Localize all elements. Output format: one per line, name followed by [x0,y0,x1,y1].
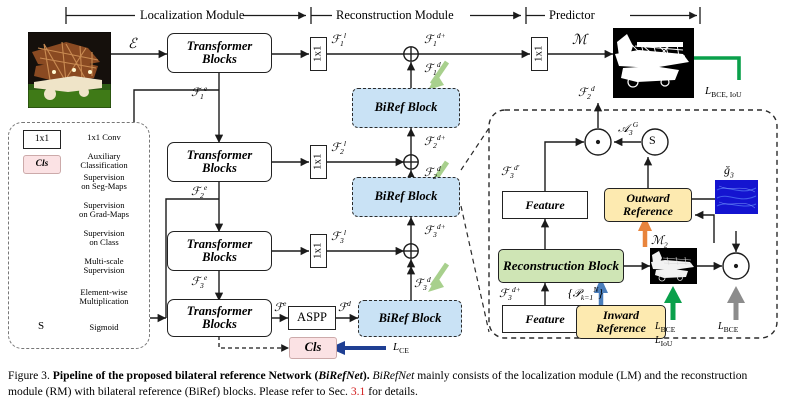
caption-title: Pipeline of the proposed bilateral refer… [53,369,370,382]
cls-block[interactable]: Cls [289,337,337,359]
biref-block-2-label: BiRef Block [375,190,438,203]
caption-net-name: BiRefNet [373,369,415,382]
label-loss-mask: LBCELIoU [655,321,675,348]
label-F3d-prime: ℱ3d′ [501,163,519,180]
transformer-blocks-3[interactable]: TransformerBlocks [167,231,272,271]
outward-reference-block[interactable]: OutwardReference [604,188,692,222]
biref-block-3[interactable]: BiRef Block [358,300,462,337]
label-F2l: ℱ2l [331,139,346,156]
transformer-blocks-1[interactable]: TransformerBlocks [167,33,272,73]
label-patches: {𝒫k=1N} [568,285,603,302]
cls-label: Cls [305,341,322,354]
label-Fd: ℱd [338,299,351,314]
legend-conv-1x1-icon: 1x1 [23,130,61,149]
transformer-blocks-4[interactable]: TransformerBlocks [167,299,272,337]
conv-1x1-predictor[interactable]: 1x1 [531,37,548,71]
legend-label-class: Supervisionon Class [66,229,142,248]
feature-box-top-label: Feature [525,199,564,212]
legend-cls-icon-text: Cls [36,160,49,170]
legend-label-elementwise: Element-wiseMultiplication [66,288,142,307]
feature-box-top[interactable]: Feature [502,191,588,219]
biref-block-3-label: BiRef Block [379,312,442,325]
transformer-blocks-2-label: TransformerBlocks [187,149,253,175]
conv-1x1-1-label: 1x1 [313,46,325,63]
label-F3e: ℱ3e [191,273,207,290]
feature-box-bottom-label: Feature [525,313,564,326]
label-Fe: ℱe [274,299,286,314]
conv-1x1-2[interactable]: 1x1 [310,145,327,179]
label-F1d-plus: ℱ1d+ [424,31,446,48]
label-attention-A3G: 𝒜3G [618,120,638,137]
legend-label-conv: 1x1 Conv [66,133,142,142]
mask-m2-image [650,248,697,284]
biref-block-1[interactable]: BiRef Block [352,88,460,128]
label-F1l: ℱ1l [331,31,346,48]
caption-body-end: for details. [365,385,417,398]
outward-reference-label: OutwardReference [623,192,673,219]
caption-section-link[interactable]: 3.1 [351,385,366,398]
biref-block-2[interactable]: BiRef Block [352,177,460,217]
legend-sigmoid-icon-text: S [38,320,44,332]
conv-1x1-1[interactable]: 1x1 [310,37,327,71]
inward-reference-block[interactable]: InwardReference [576,305,666,339]
biref-block-1-label: BiRef Block [375,101,438,114]
label-input-I: ℰ [128,36,136,53]
output-mask-image [613,28,694,98]
label-F1d: ℱ1d [424,60,441,77]
label-F3d: ℱ3d [414,275,431,292]
label-gt-G3: ğ3 [724,163,734,179]
aspp-block[interactable]: ASPP [288,306,336,330]
figure-caption: Figure 3. Pipeline of the proposed bilat… [8,368,784,399]
label-loss-grad: LBCE [718,321,738,334]
legend-label-seg: Supervisionon Seg-Maps [66,173,142,192]
figure-pipeline-birefnet: Localization Module Reconstruction Modul… [0,0,790,419]
label-F2d: ℱ2d [424,164,441,181]
caption-number: Figure 3. [8,369,50,382]
legend-label-sigmoid: Sigmoid [66,323,142,332]
ground-truth-g3-image [715,180,758,214]
label-loss-ce: LCE [393,341,409,355]
reconstruction-block[interactable]: Reconstruction Block [498,249,624,283]
input-image [28,32,111,108]
header-localization-module: Localization Module [140,8,244,23]
label-F2d-plus: ℱ2d+ [424,133,446,150]
label-mask-M2: ℳ2 [651,233,668,249]
label-F3d-plus: ℱ3d+ [424,222,446,239]
transformer-blocks-1-label: TransformerBlocks [187,40,253,66]
legend-label-cls: AuxiliaryClassification [66,152,142,171]
header-predictor: Predictor [549,8,595,23]
transformer-blocks-3-label: TransformerBlocks [187,238,253,264]
sigmoid-node-label: S [649,133,656,148]
conv-1x1-3[interactable]: 1x1 [310,234,327,268]
label-F3l: ℱ3l [331,228,346,245]
legend-cls-icon: Cls [23,155,61,174]
label-F1e: ℱ1e [191,84,207,101]
transformer-blocks-4-label: TransformerBlocks [187,305,253,331]
inward-reference-label: InwardReference [596,309,646,336]
legend-label-multiscale: Multi-scaleSupervision [66,257,142,276]
label-loss-bce-iou: LBCE, IoU [705,85,742,99]
conv-1x1-predictor-label: 1x1 [534,46,546,63]
transformer-blocks-2[interactable]: TransformerBlocks [167,142,272,182]
legend-conv-1x1-icon-text: 1x1 [35,135,49,145]
aspp-label: ASPP [297,311,327,324]
reconstruction-block-label: Reconstruction Block [503,259,619,273]
label-output-M: ℳ [572,32,587,49]
conv-1x1-2-label: 1x1 [313,154,325,171]
label-detail-F3d-plus: ℱ3d+ [499,285,521,302]
label-F2e: ℱ2e [191,183,207,200]
legend-label-grad: Supervisionon Grad-Maps [66,201,142,220]
header-reconstruction-module: Reconstruction Module [336,8,454,23]
label-detail-F2d: ℱ2d [578,84,595,101]
conv-1x1-3-label: 1x1 [313,243,325,260]
